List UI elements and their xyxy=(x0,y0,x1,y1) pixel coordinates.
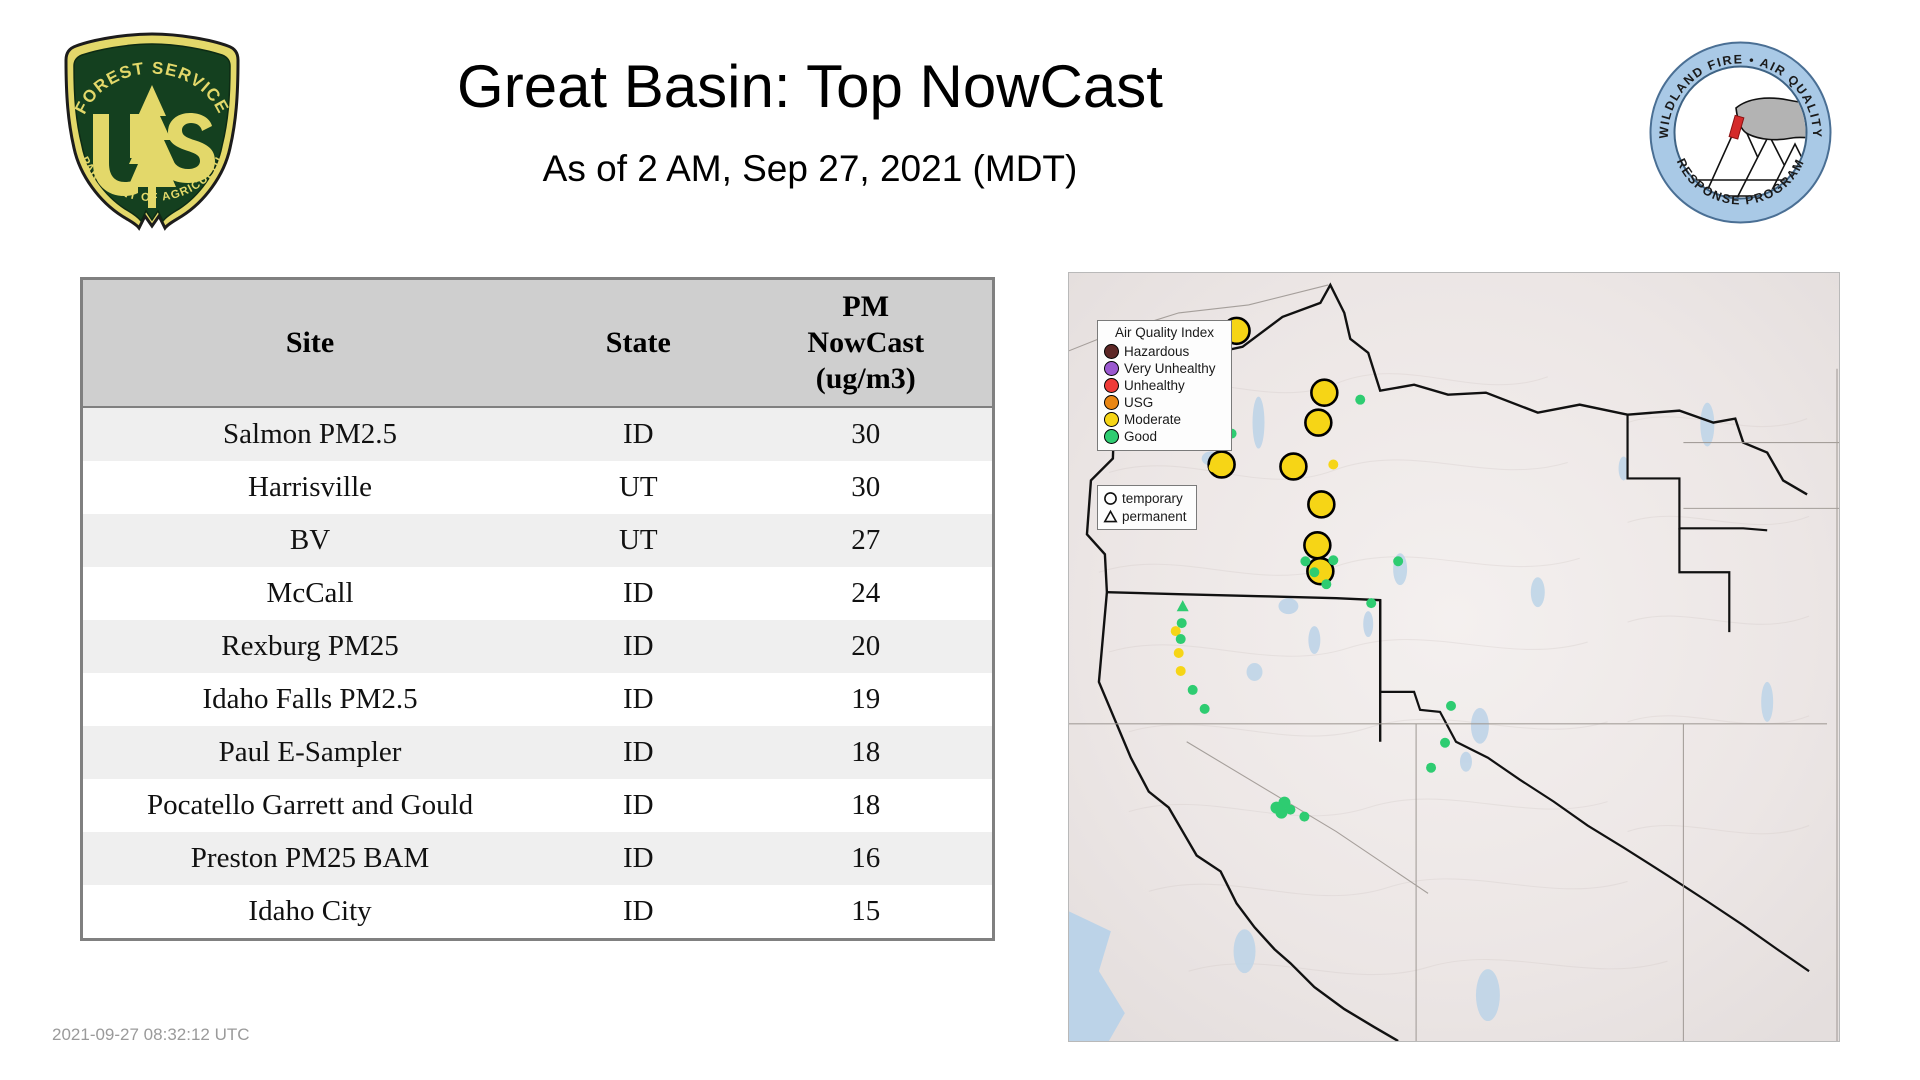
aqi-label-unhealthy: Unhealthy xyxy=(1124,378,1185,393)
cell-value: 18 xyxy=(740,779,993,832)
cell-value: 24 xyxy=(740,567,993,620)
monitor-marker-top-site[interactable] xyxy=(1308,491,1334,517)
footer-timestamp: 2021-09-27 08:32:12 UTC xyxy=(52,1025,250,1045)
wildland-fire-air-quality-response-program-logo: WILDLAND FIRE • AIR QUALITY RESPONSE PRO… xyxy=(1648,40,1833,225)
cell-state: UT xyxy=(537,461,739,514)
cell-site: Idaho City xyxy=(83,885,537,938)
nowcast-table-container: Site State PM NowCast (ug/m3) Salmon PM2… xyxy=(80,277,995,941)
aqi-swatch-good xyxy=(1104,429,1119,444)
cell-site: Rexburg PM25 xyxy=(83,620,537,673)
aqi-legend-title: Air Quality Index xyxy=(1104,325,1225,340)
monitor-marker[interactable] xyxy=(1188,685,1198,695)
cell-state: ID xyxy=(537,779,739,832)
aqi-label-usg: USG xyxy=(1124,395,1153,410)
great-basin-monitor-map[interactable]: Air Quality Index Hazardous Very Unhealt… xyxy=(1068,272,1840,1042)
table-row: Idaho City ID 15 xyxy=(83,885,992,938)
nowcast-table: Site State PM NowCast (ug/m3) Salmon PM2… xyxy=(83,280,992,938)
table-row: Rexburg PM25 ID 20 xyxy=(83,620,992,673)
monitor-marker[interactable] xyxy=(1200,704,1210,714)
table-row: Paul E-Sampler ID 18 xyxy=(83,726,992,779)
cell-site: Harrisville xyxy=(83,461,537,514)
aqi-label-good: Good xyxy=(1124,429,1157,444)
aqi-legend-item-hazardous: Hazardous xyxy=(1104,343,1225,360)
cell-state: ID xyxy=(537,726,739,779)
aqi-swatch-usg xyxy=(1104,395,1119,410)
cell-value: 30 xyxy=(740,461,993,514)
monitor-marker[interactable] xyxy=(1426,763,1436,773)
monitor-type-legend: temporary permanent xyxy=(1097,485,1197,530)
aqi-legend-item-very-unhealthy: Very Unhealthy xyxy=(1104,360,1225,377)
page-subtitle: As of 2 AM, Sep 27, 2021 (MDT) xyxy=(360,146,1260,192)
table-row: Preston PM25 BAM ID 16 xyxy=(83,832,992,885)
cell-site: McCall xyxy=(83,567,537,620)
monitor-marker[interactable] xyxy=(1393,556,1403,566)
monitor-marker[interactable] xyxy=(1309,567,1319,577)
monitor-marker[interactable] xyxy=(1300,556,1310,566)
monitor-marker[interactable] xyxy=(1321,579,1331,589)
cell-site: BV xyxy=(83,514,537,567)
cell-value: 30 xyxy=(740,407,993,461)
cell-site: Preston PM25 BAM xyxy=(83,832,537,885)
monitor-marker[interactable] xyxy=(1176,634,1186,644)
table-row: Idaho Falls PM2.5 ID 19 xyxy=(83,673,992,726)
table-row: Pocatello Garrett and Gould ID 18 xyxy=(83,779,992,832)
monitor-marker[interactable] xyxy=(1177,600,1189,611)
table-header-row: Site State PM NowCast (ug/m3) xyxy=(83,280,992,407)
aqi-legend-item-unhealthy: Unhealthy xyxy=(1104,377,1225,394)
table-row: McCall ID 24 xyxy=(83,567,992,620)
monitor-type-label-temporary: temporary xyxy=(1122,491,1183,506)
monitor-marker[interactable] xyxy=(1328,555,1338,565)
monitor-marker-top-site[interactable] xyxy=(1305,410,1331,436)
cell-value: 16 xyxy=(740,832,993,885)
table-row: BV UT 27 xyxy=(83,514,992,567)
cell-state: ID xyxy=(537,673,739,726)
monitor-type-item-permanent: permanent xyxy=(1103,507,1191,525)
cell-site: Pocatello Garrett and Gould xyxy=(83,779,537,832)
monitor-marker[interactable] xyxy=(1174,648,1184,658)
table-row: Harrisville UT 30 xyxy=(83,461,992,514)
cell-value: 18 xyxy=(740,726,993,779)
circle-icon xyxy=(1103,491,1118,506)
triangle-icon xyxy=(1103,509,1118,524)
aqi-swatch-hazardous xyxy=(1104,344,1119,359)
aqi-label-very-unhealthy: Very Unhealthy xyxy=(1124,361,1216,376)
cell-state: ID xyxy=(537,407,739,461)
aqi-legend-item-usg: USG xyxy=(1104,394,1225,411)
monitor-marker[interactable] xyxy=(1355,395,1365,405)
column-header-pm-nowcast: PM NowCast (ug/m3) xyxy=(740,280,993,407)
aqi-label-hazardous: Hazardous xyxy=(1124,344,1189,359)
aqi-legend-item-moderate: Moderate xyxy=(1104,411,1225,428)
table-body: Salmon PM2.5 ID 30 Harrisville UT 30 BV … xyxy=(83,407,992,938)
monitor-type-item-temporary: temporary xyxy=(1103,489,1191,507)
monitor-type-label-permanent: permanent xyxy=(1122,509,1187,524)
column-header-site: Site xyxy=(83,280,537,407)
slide-root: FOREST SERVICE DEPARTMENT OF AGRICULTURE… xyxy=(0,0,1920,1080)
monitor-marker[interactable] xyxy=(1299,812,1309,822)
monitor-marker[interactable] xyxy=(1285,805,1295,815)
page-title: Great Basin: Top NowCast xyxy=(360,52,1260,122)
monitor-marker[interactable] xyxy=(1209,463,1219,473)
cell-state: ID xyxy=(537,567,739,620)
column-header-pm-line2: NowCast xyxy=(744,325,989,361)
table-row: Salmon PM2.5 ID 30 xyxy=(83,407,992,461)
column-header-state: State xyxy=(537,280,739,407)
aqi-swatch-moderate xyxy=(1104,412,1119,427)
column-header-pm-line3: (ug/m3) xyxy=(744,361,989,397)
cell-site: Paul E-Sampler xyxy=(83,726,537,779)
monitor-marker-top-site[interactable] xyxy=(1304,532,1330,558)
aqi-legend-item-good: Good xyxy=(1104,428,1225,445)
cell-state: UT xyxy=(537,514,739,567)
aqi-swatch-unhealthy xyxy=(1104,378,1119,393)
cell-state: ID xyxy=(537,885,739,938)
cell-value: 15 xyxy=(740,885,993,938)
monitor-marker-top-site[interactable] xyxy=(1280,454,1306,480)
cell-value: 27 xyxy=(740,514,993,567)
monitor-marker[interactable] xyxy=(1177,618,1187,628)
aqi-label-moderate: Moderate xyxy=(1124,412,1181,427)
aqi-legend: Air Quality Index Hazardous Very Unhealt… xyxy=(1097,320,1232,451)
cell-state: ID xyxy=(537,832,739,885)
table-head: Site State PM NowCast (ug/m3) xyxy=(83,280,992,407)
cell-state: ID xyxy=(537,620,739,673)
usda-forest-service-shield-logo: FOREST SERVICE DEPARTMENT OF AGRICULTURE xyxy=(52,30,252,235)
cell-site: Salmon PM2.5 xyxy=(83,407,537,461)
monitor-marker[interactable] xyxy=(1176,666,1186,676)
cell-site: Idaho Falls PM2.5 xyxy=(83,673,537,726)
column-header-pm-line1: PM xyxy=(744,289,989,325)
monitor-marker[interactable] xyxy=(1440,738,1450,748)
cell-value: 19 xyxy=(740,673,993,726)
cell-value: 20 xyxy=(740,620,993,673)
monitor-marker[interactable] xyxy=(1366,598,1376,608)
monitor-marker[interactable] xyxy=(1328,460,1338,470)
monitor-marker[interactable] xyxy=(1446,701,1456,711)
monitor-marker-top-site[interactable] xyxy=(1311,380,1337,406)
aqi-swatch-very-unhealthy xyxy=(1104,361,1119,376)
